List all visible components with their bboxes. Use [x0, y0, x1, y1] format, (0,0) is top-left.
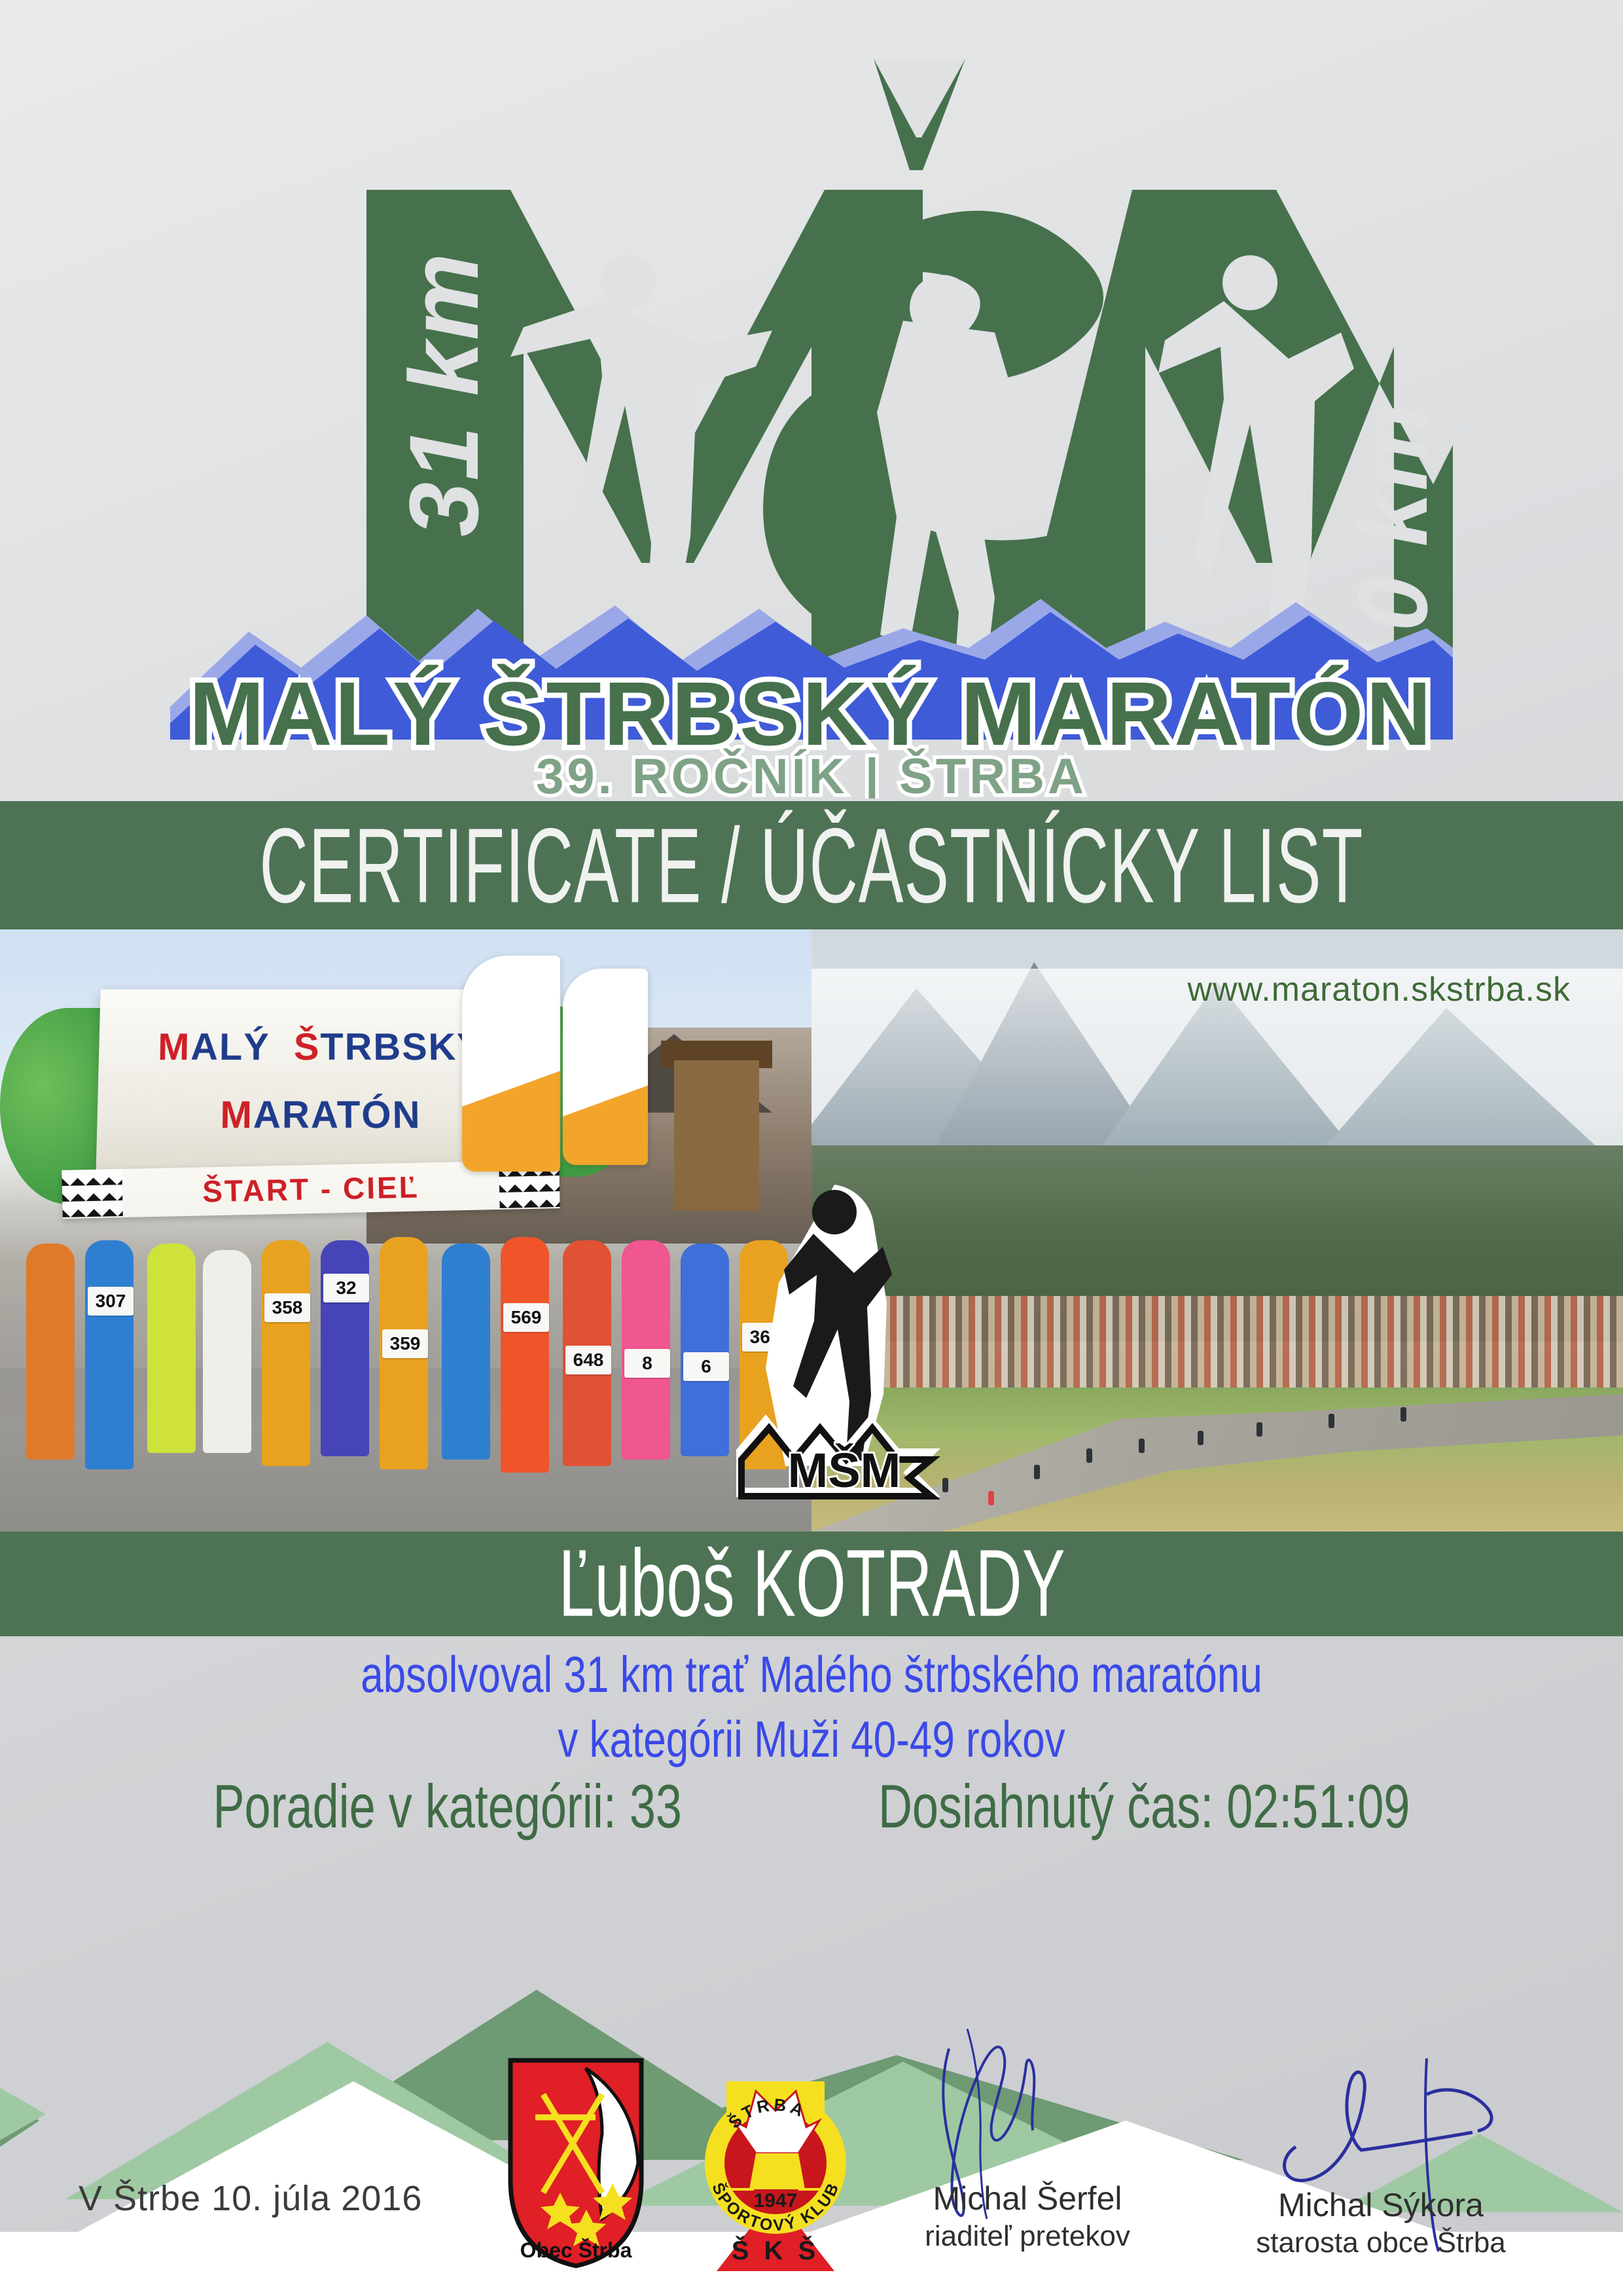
municipality-caption: Obec Štrba [504, 2238, 648, 2263]
runner-figure [203, 1250, 251, 1453]
runner-figure [681, 1244, 729, 1456]
runner-bib: 359 [382, 1329, 428, 1358]
runner-bib: 8 [624, 1349, 670, 1378]
finish-time: Dosiahnutý čas: 02:51:09 [878, 1772, 1410, 1842]
distant-runner [1086, 1448, 1092, 1463]
runner-figure [147, 1244, 196, 1453]
achievement-description: absolvoval 31 km trať Malého štrbského m… [0, 1643, 1623, 1772]
distant-runner [1257, 1422, 1262, 1437]
runner-bib: 32 [323, 1274, 369, 1302]
msm-logo: 31 km 10 km MALÝ ŠTRBSKÝ MARATÓN 39. ROČ… [0, 39, 1623, 798]
category-rank: Poradie v kategórii: 33 [213, 1772, 682, 1842]
runner-figure [85, 1240, 134, 1469]
emblem-label: MŠM [788, 1443, 901, 1498]
msm-logo-graphic: 31 km 10 km MALÝ ŠTRBSKÝ MARATÓN 39. ROČ… [170, 39, 1453, 798]
runner-bib: 307 [88, 1287, 134, 1316]
svg-text:Š K Š: Š K Š [732, 2235, 819, 2265]
description-line-1: absolvoval 31 km trať Malého štrbského m… [361, 1647, 1262, 1703]
svg-text:39. ROČNÍK | ŠTRBA: 39. ROČNÍK | ŠTRBA [536, 749, 1087, 798]
runner-figure [262, 1240, 310, 1466]
website-url: www.maraton.skstrba.sk [1188, 970, 1571, 1009]
signature-name: Michal Sýkora [1198, 2186, 1564, 2224]
certificate-title-band: CERTIFICATE / ÚČASTNÍCKY LIST [0, 801, 1623, 929]
runner-bib: 358 [264, 1293, 310, 1322]
sail-flag [563, 969, 648, 1165]
runner-figure [501, 1237, 549, 1473]
issue-date: V Štrbe 10. júla 2016 [79, 2178, 422, 2219]
sports-club-emblem-icon: 1947 ŠTRBA ŠPORTOVÝ KLUB Š K Š [694, 2055, 857, 2278]
header-logo-area: 31 km 10 km MALÝ ŠTRBSKÝ MARATÓN 39. ROČ… [0, 0, 1623, 798]
description-line-2: v kategórii Muži 40-49 rokov [0, 1708, 1623, 1772]
runner-bib: 6 [683, 1352, 729, 1381]
svg-text:31 km: 31 km [389, 252, 499, 537]
certificate-page: 31 km 10 km MALÝ ŠTRBSKÝ MARATÓN 39. ROČ… [0, 0, 1623, 2296]
certificate-body: absolvoval 31 km trať Malého štrbského m… [0, 1636, 1623, 1911]
distant-runner [1400, 1407, 1406, 1422]
page-title: CERTIFICATE / ÚČASTNÍCKY LIST [259, 804, 1363, 926]
signature-role: starosta obce Štrba [1198, 2227, 1564, 2259]
runner-bib: 648 [565, 1346, 611, 1374]
distant-runner [1139, 1439, 1145, 1453]
distant-runner [988, 1491, 994, 1505]
participant-name: Ľuboš KOTRADY [558, 1530, 1065, 1639]
runner-figure [321, 1240, 369, 1456]
photo-start-line: MALÝ ŠTRBSKÝ MARATÓN ŠTART - CIEĽ [0, 929, 811, 1532]
signature-block-race-director: Michal Šerfel riaditeľ pretekov [844, 2179, 1211, 2253]
runner-bib: 569 [503, 1303, 549, 1332]
participant-name-band: Ľuboš KOTRADY [0, 1532, 1623, 1636]
runner-figure [26, 1244, 75, 1460]
distant-runner [1329, 1414, 1334, 1428]
club-year: 1947 [754, 2190, 798, 2212]
distant-runner [1034, 1465, 1040, 1479]
msm-sticker-emblem: MŠM [736, 1178, 952, 1505]
results-row: Poradie v kategórii: 33 Dosiahnutý čas: … [0, 1780, 1623, 1834]
certificate-footer: V Štrbe 10. júla 2016 Obec Štrba [0, 2055, 1623, 2296]
sail-flag [462, 956, 560, 1172]
signature-role: riaditeľ pretekov [844, 2220, 1211, 2253]
signature-name: Michal Šerfel [844, 2179, 1211, 2217]
signature-block-mayor: Michal Sýkora starosta obce Štrba [1198, 2186, 1564, 2259]
distant-runner [1198, 1431, 1204, 1445]
runner-figure [442, 1244, 490, 1460]
